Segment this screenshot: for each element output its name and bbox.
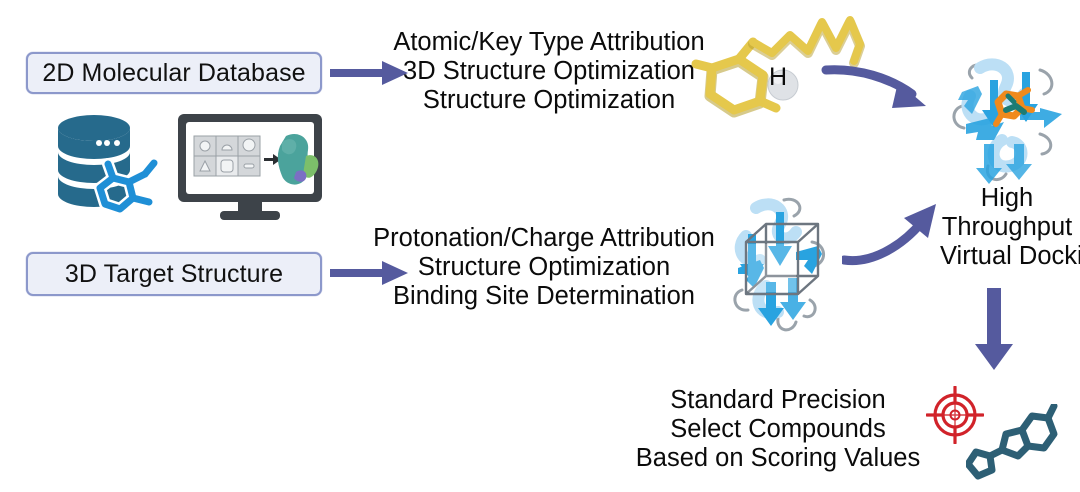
database-molecule-icon xyxy=(50,112,166,216)
caption-scoring-selection: Standard Precision Select Compounds Base… xyxy=(618,386,938,473)
diagram-canvas: 2D Molecular Database Atomic/Key Type At… xyxy=(0,0,1080,492)
arrow-down-icon xyxy=(972,288,1016,372)
hit-compound-molecule-icon xyxy=(966,404,1078,486)
node-3d-target-structure[interactable]: 3D Target Structure xyxy=(26,252,322,296)
protein-ligand-complex-icon xyxy=(944,48,1068,188)
caption-scoring-line-3: Based on Scoring Values xyxy=(618,444,938,473)
caption-target-preparation: Protonation/Charge Attribution Structure… xyxy=(366,224,722,311)
caption-ligand-preparation: Atomic/Key Type Attribution 3D Structure… xyxy=(388,28,710,115)
curved-arrow-down-right-icon xyxy=(820,52,950,122)
caption-ligand-line-2: 3D Structure Optimization xyxy=(388,57,710,86)
monitor-screening-icon xyxy=(176,112,328,222)
caption-target-line-1: Protonation/Charge Attribution xyxy=(366,224,722,253)
node-2d-molecular-database-label: 2D Molecular Database xyxy=(42,59,305,88)
caption-scoring-line-1: Standard Precision xyxy=(618,386,938,415)
caption-scoring-line-2: Select Compounds xyxy=(618,415,938,444)
node-2d-molecular-database[interactable]: 2D Molecular Database xyxy=(26,52,322,94)
curved-arrow-up-right-icon xyxy=(842,194,966,278)
caption-ligand-line-1: Atomic/Key Type Attribution xyxy=(388,28,710,57)
caption-target-line-2: Structure Optimization xyxy=(366,253,722,282)
protein-binding-site-box-icon xyxy=(722,190,846,336)
caption-target-line-3: Binding Site Determination xyxy=(366,282,722,311)
node-3d-target-structure-label: 3D Target Structure xyxy=(65,260,283,289)
caption-ligand-line-3: Structure Optimization xyxy=(388,86,710,115)
hydrogen-atom-label: H xyxy=(764,63,792,91)
